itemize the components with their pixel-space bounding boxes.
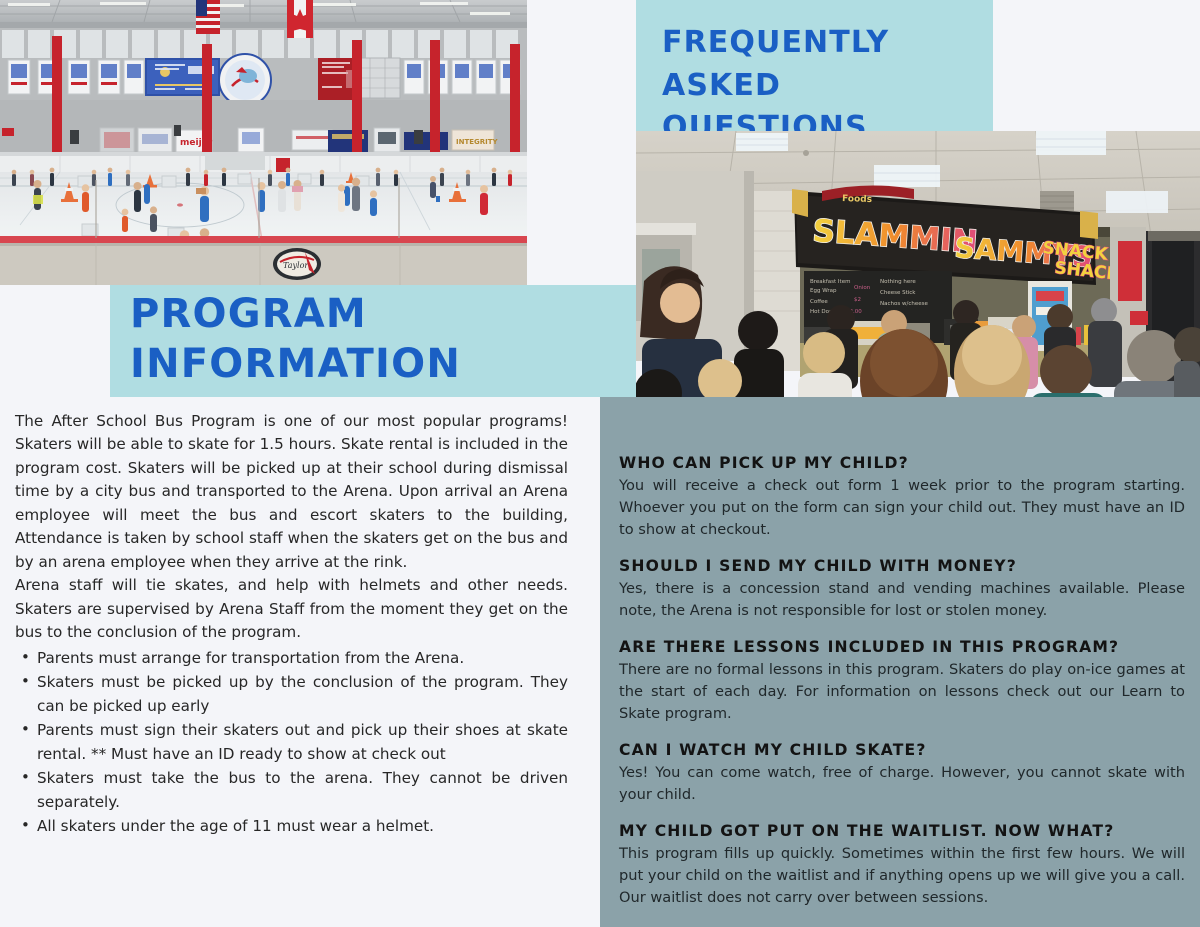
rink-logo-decal: Taylor: [273, 248, 321, 280]
svg-text:$2: $2: [854, 297, 861, 303]
faq-panel: WHO CAN PICK UP MY CHILD? You will recei…: [600, 397, 1200, 927]
faq-question: CAN I WATCH MY CHILD SKATE?: [619, 740, 1185, 760]
faq-question: SHOULD I SEND MY CHILD WITH MONEY?: [619, 556, 1185, 576]
program-heading: PROGRAM INFORMATION: [130, 289, 630, 390]
svg-text:Foods: Foods: [842, 194, 872, 205]
faq-question: MY CHILD GOT PUT ON THE WAITLIST. NOW WH…: [619, 821, 1185, 841]
svg-text:INTEGRITY: INTEGRITY: [456, 138, 499, 146]
svg-text:Egg Wrap: Egg Wrap: [810, 288, 837, 294]
faq-question: WHO CAN PICK UP MY CHILD?: [619, 453, 1185, 473]
faq-title-band: FREQUENTLY ASKED QUESTIONS: [636, 0, 993, 131]
list-item: All skaters under the age of 11 must wea…: [15, 815, 568, 838]
program-information-body: The After School Bus Program is one of o…: [15, 410, 568, 840]
svg-text:Taylor: Taylor: [283, 261, 309, 270]
faq-answer: You will receive a check out form 1 week…: [619, 475, 1185, 541]
list-item: Skaters must be picked up by the conclus…: [15, 671, 568, 718]
arena-logo: [219, 54, 271, 106]
list-item: Skaters must take the bus to the arena. …: [15, 767, 568, 814]
program-paragraph-2: Arena staff will tie skates, and help wi…: [15, 574, 568, 644]
svg-text:Nothing here: Nothing here: [880, 279, 916, 285]
svg-text:Coffee: Coffee: [810, 299, 828, 305]
program-paragraph-1: The After School Bus Program is one of o…: [15, 410, 568, 574]
list-item: Parents must arrange for transportation …: [15, 647, 568, 670]
faq-answer: There are no formal lessons in this prog…: [619, 659, 1185, 725]
ice-rink-illustration: meijer INTEGRITY: [0, 0, 527, 285]
usa-flag: [196, 0, 220, 34]
svg-text:Nachos w/cheese: Nachos w/cheese: [880, 301, 928, 307]
faq-list: WHO CAN PICK UP MY CHILD? You will recei…: [619, 453, 1185, 924]
svg-text:Breakfast Item: Breakfast Item: [810, 279, 850, 285]
program-bullet-list: Parents must arrange for transportation …: [15, 647, 568, 839]
faq-question: ARE THERE LESSONS INCLUDED IN THIS PROGR…: [619, 637, 1185, 657]
canada-flag: [287, 0, 313, 38]
program-title-band: PROGRAM INFORMATION: [110, 285, 636, 397]
svg-text:Cheese Stick: Cheese Stick: [880, 290, 916, 296]
svg-text:Onion: Onion: [854, 285, 871, 291]
faq-answer: Yes, there is a concession stand and ven…: [619, 578, 1185, 622]
faq-answer: This program fills up quickly. Sometimes…: [619, 843, 1185, 909]
faq-answer: Yes! You can come watch, free of charge.…: [619, 762, 1185, 806]
list-item: Parents must sign their skaters out and …: [15, 719, 568, 766]
ice-rink-photo: meijer INTEGRITY: [0, 0, 527, 285]
